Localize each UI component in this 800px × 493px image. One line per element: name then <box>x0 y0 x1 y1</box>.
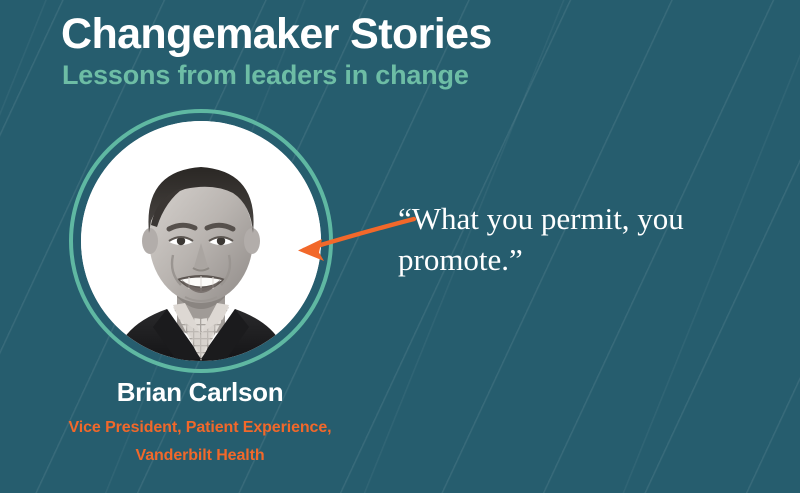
speaker-name: Brian Carlson <box>0 378 400 408</box>
speaker-portrait <box>69 109 333 373</box>
speaker-role-line-2: Vanderbilt Health <box>0 442 400 470</box>
changemaker-stories-slide: Changemaker Stories Lessons from leaders… <box>0 0 800 493</box>
speaker-role: Vice President, Patient Experience, Vand… <box>0 414 400 470</box>
series-subtitle: Lessons from leaders in change <box>62 60 469 91</box>
pull-quote: “What you permit, you promote.” <box>398 198 728 280</box>
speaker-caption: Brian Carlson Vice President, Patient Ex… <box>0 378 400 470</box>
series-title: Changemaker Stories <box>61 10 492 59</box>
speaker-role-line-1: Vice President, Patient Experience, <box>0 414 400 442</box>
portrait-ring <box>69 109 333 373</box>
